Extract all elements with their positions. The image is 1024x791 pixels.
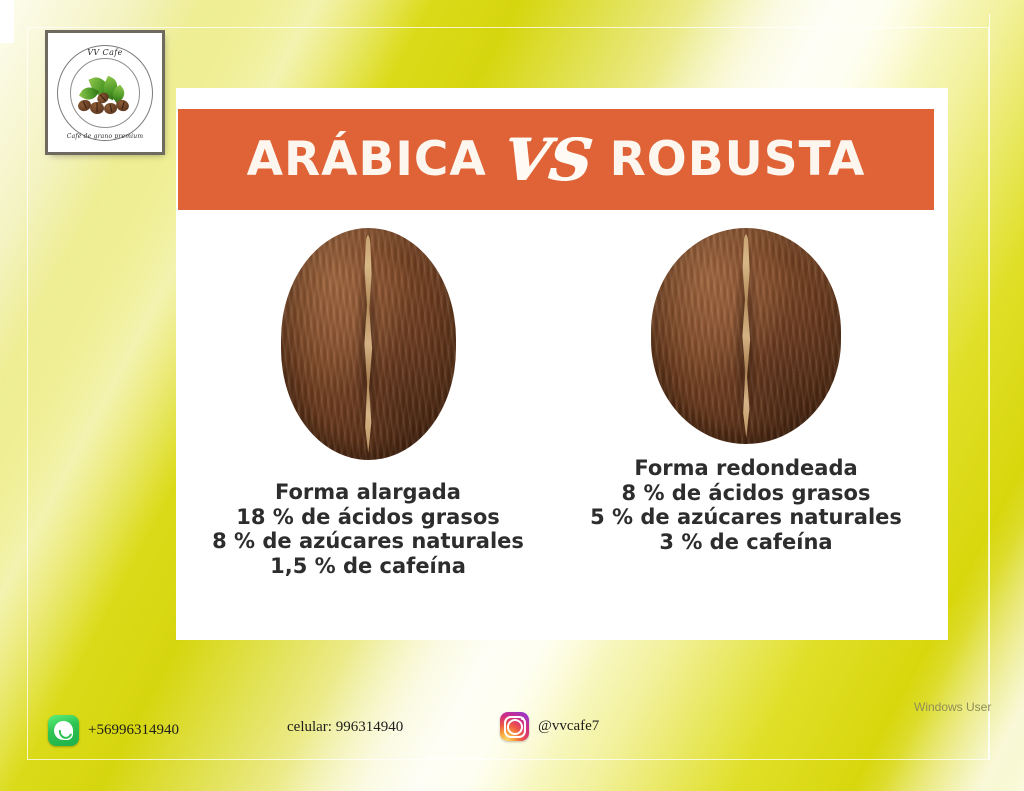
coffee-bean-round-icon	[651, 228, 841, 444]
banner-right-title: ROBUSTA	[610, 136, 866, 183]
contact-whatsapp[interactable]: +56996314940	[48, 715, 179, 746]
spec-line: 5 % de azúcares naturales	[590, 505, 902, 530]
whatsapp-number: +56996314940	[88, 722, 179, 739]
instagram-handle: @vvcafe7	[538, 718, 599, 735]
specs-arabica: Forma alargada 18 % de ácidos grasos 8 %…	[212, 480, 524, 578]
specs-robusta: Forma redondeada 8 % de ácidos grasos 5 …	[590, 456, 902, 554]
spec-line: 1,5 % de cafeína	[212, 554, 524, 579]
spec-line: Forma alargada	[212, 480, 524, 505]
column-arabica: Forma alargada 18 % de ácidos grasos 8 %…	[198, 228, 538, 578]
instagram-frame	[504, 716, 526, 738]
corner-notch	[0, 0, 14, 43]
banner-vs-label: VS	[502, 131, 595, 189]
coffee-bean-elongated-icon	[281, 228, 456, 460]
spec-line: 3 % de cafeína	[590, 530, 902, 555]
contact-instagram[interactable]: @vvcafe7	[500, 712, 599, 741]
celular-number: celular: 996314940	[287, 719, 403, 736]
banner-left-title: ARÁBICA	[247, 136, 487, 183]
brand-logo: VV Cafe Café de grano premium	[48, 33, 162, 152]
instagram-icon[interactable]	[500, 712, 529, 741]
author-watermark: Windows User	[914, 700, 991, 714]
spec-line: 8 % de ácidos grasos	[590, 481, 902, 506]
column-robusta: Forma redondeada 8 % de ácidos grasos 5 …	[576, 228, 916, 554]
content-card: ARÁBICA VS ROBUSTA Forma alargada 18 % d…	[176, 88, 948, 640]
spec-line: 18 % de ácidos grasos	[212, 505, 524, 530]
spec-line: 8 % de azúcares naturales	[212, 529, 524, 554]
slide-canvas: VV Cafe Café de grano premium ARÁBICA VS…	[0, 0, 1024, 791]
contact-celular: celular: 996314940	[287, 719, 403, 736]
whatsapp-icon[interactable]	[48, 715, 79, 746]
bean-image-robusta	[651, 228, 841, 444]
coffee-beans-leaves-icon	[76, 76, 134, 118]
spec-line: Forma redondeada	[590, 456, 902, 481]
comparison-banner: ARÁBICA VS ROBUSTA	[178, 109, 934, 210]
contact-footer: +56996314940 celular: 996314940 @vvcafe7	[0, 703, 1024, 763]
logo-tagline: Café de grano premium	[48, 133, 162, 140]
logo-brand-name: VV Cafe	[48, 48, 162, 57]
bean-image-arabica	[281, 228, 456, 460]
